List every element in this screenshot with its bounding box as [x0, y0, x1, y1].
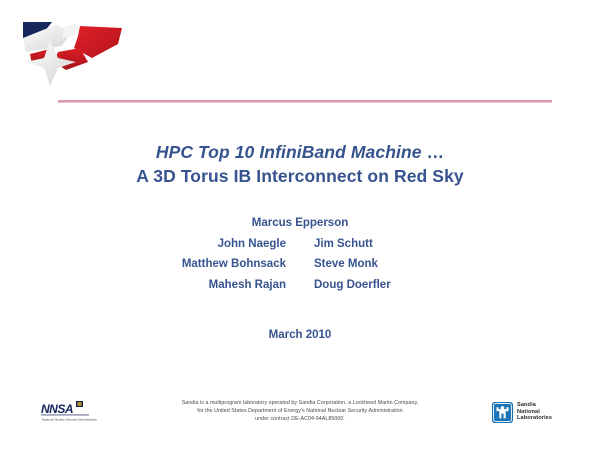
sandia-wordmark: Sandia National Laboratories	[517, 402, 552, 422]
sandia-thunderbird-icon	[492, 402, 513, 423]
page-title: HPC Top 10 InfiniBand Machine … A 3D Tor…	[0, 140, 600, 188]
author-name: Mahesh Rajan	[160, 275, 300, 296]
author-name: John Naegle	[160, 234, 300, 255]
sandia-logo: Sandia National Laboratories	[492, 398, 572, 426]
disclaimer-line-2: for the United States Department of Ener…	[120, 407, 480, 415]
footer-disclaimer: Sandia is a multiprogram laboratory oper…	[120, 399, 480, 424]
author-row: Marcus Epperson	[0, 213, 600, 234]
flag-star-swoosh-logo	[18, 18, 130, 90]
author-row: Mahesh Rajan Doug Doerfler	[0, 275, 600, 296]
title-line-1-text: HPC Top 10 InfiniBand Machine	[156, 142, 422, 162]
sandia-name-line-1: Sandia	[517, 402, 552, 409]
author-name: Jim Schutt	[300, 234, 440, 255]
author-row: Matthew Bohnsack Steve Monk	[0, 254, 600, 275]
svg-text:NNSA: NNSA	[41, 402, 73, 416]
author-row: John Naegle Jim Schutt	[0, 234, 600, 255]
author-name: Marcus Epperson	[252, 213, 349, 234]
title-line-1: HPC Top 10 InfiniBand Machine …	[0, 140, 600, 164]
author-name: Matthew Bohnsack	[160, 254, 300, 275]
sandia-name-line-2: National	[517, 409, 552, 416]
title-line-2: A 3D Torus IB Interconnect on Red Sky	[0, 164, 600, 188]
author-list: Marcus Epperson John Naegle Jim Schutt M…	[0, 213, 600, 295]
disclaimer-line-3: under contract DE-AC04-94AL85000.	[120, 415, 480, 423]
title-slide: HPC Top 10 InfiniBand Machine … A 3D Tor…	[0, 0, 600, 464]
author-name: Steve Monk	[300, 254, 440, 275]
header-divider	[58, 100, 552, 102]
title-ellipsis: …	[427, 142, 445, 162]
nnsa-logo: NNSA National Nuclear Security Administr…	[40, 400, 98, 424]
author-name: Doug Doerfler	[300, 275, 440, 296]
sandia-name-line-3: Laboratories	[517, 415, 552, 422]
disclaimer-line-1: Sandia is a multiprogram laboratory oper…	[120, 399, 480, 407]
presentation-date: March 2010	[0, 329, 600, 341]
svg-text:National Nuclear Security Admi: National Nuclear Security Administration	[42, 417, 97, 421]
